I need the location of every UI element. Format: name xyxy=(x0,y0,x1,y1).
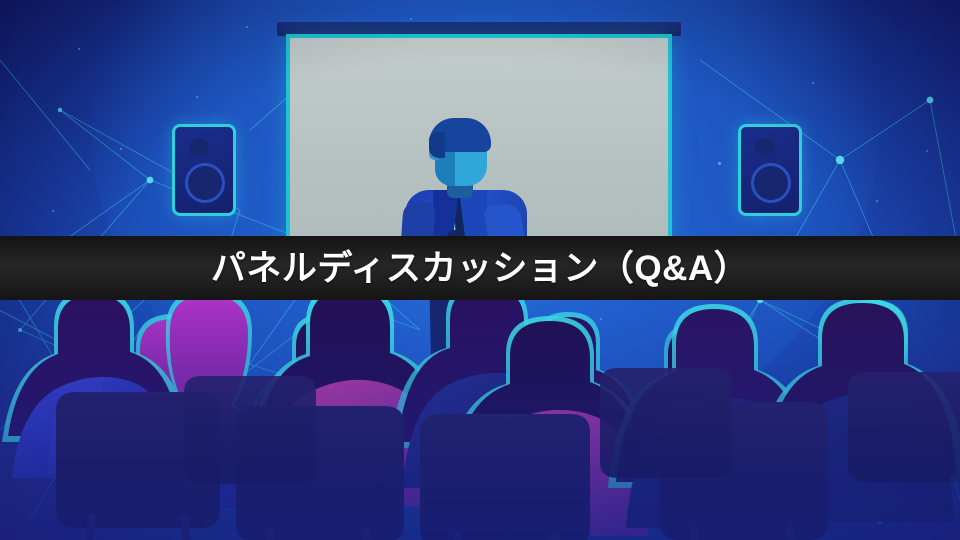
audience-backdrop xyxy=(0,292,960,540)
slide-canvas: パネルディスカッション（Q&A） xyxy=(0,0,960,540)
audience-group xyxy=(0,292,960,540)
page-title: パネルディスカッション（Q&A） xyxy=(211,251,749,286)
title-banner: パネルディスカッション（Q&A） xyxy=(0,236,960,300)
